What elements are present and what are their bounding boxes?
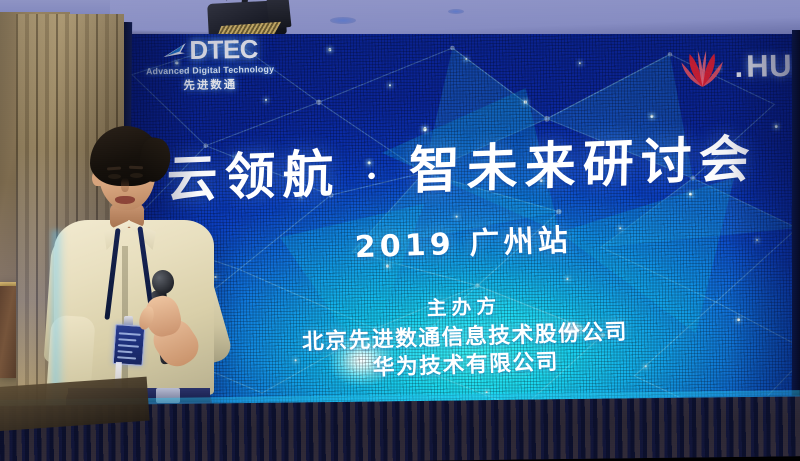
presenter-mouth <box>115 196 135 204</box>
dtec-logo: DTEC Advanced Digital Technology 先进数通 <box>126 36 301 94</box>
dtec-wordmark: DTEC <box>189 37 258 64</box>
ceiling-fixture-dot <box>330 17 356 24</box>
screen-right-bezel <box>792 30 800 430</box>
presenter-name-badge <box>113 324 146 366</box>
conference-stage-photo: DTEC Advanced Digital Technology 先进数通 <box>0 0 800 461</box>
headline-right: 智未来研讨会 <box>408 128 757 200</box>
presenter-eye-right <box>130 173 143 178</box>
headline-separator: · <box>365 156 384 198</box>
ceiling-fixture-dot <box>448 9 464 14</box>
dtec-triangle-icon <box>161 41 188 61</box>
huawei-separator: . <box>734 50 743 85</box>
huawei-petal-icon <box>673 47 732 89</box>
huawei-logo: . HUA <box>673 46 800 90</box>
dtec-chinese-name: 先进数通 <box>126 75 301 95</box>
presenter-nose <box>121 178 129 192</box>
presenter-eye-left <box>108 174 121 179</box>
